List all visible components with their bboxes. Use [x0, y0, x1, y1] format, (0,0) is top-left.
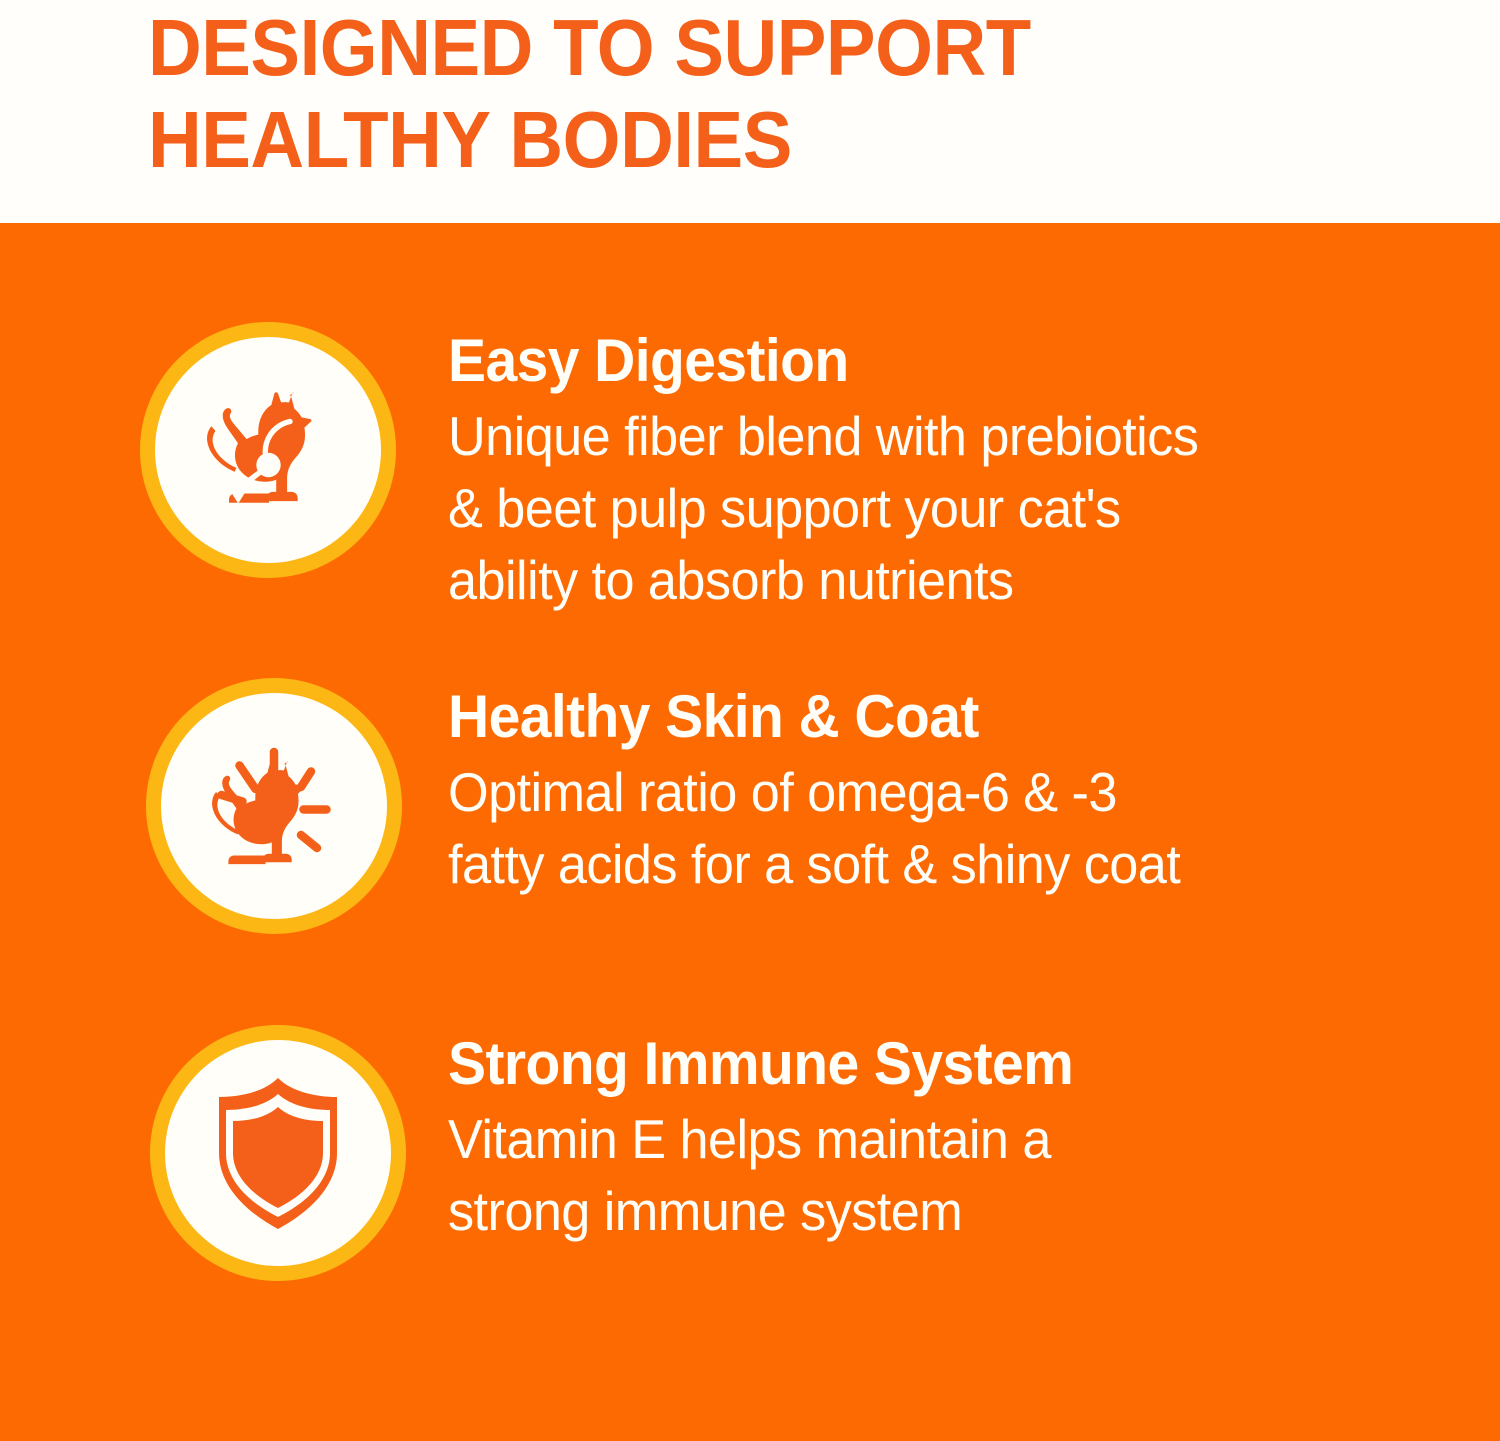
- features-panel: Easy Digestion Unique fiber blend with p…: [0, 223, 1500, 1441]
- infographic-page: DESIGNED TO SUPPORT HEALTHY BODIES: [0, 0, 1500, 1441]
- feature-title: Easy Digestion: [448, 326, 1417, 396]
- icon-badge-healthy-skin-coat: [146, 678, 402, 934]
- feature-item-easy-digestion: Easy Digestion Unique fiber blend with p…: [0, 322, 1500, 616]
- icon-disc: [155, 337, 381, 563]
- feature-title: Strong Immune System: [448, 1029, 1417, 1099]
- shield-icon: [203, 1076, 353, 1231]
- page-title: DESIGNED TO SUPPORT HEALTHY BODIES: [148, 2, 1405, 186]
- feature-list: Easy Digestion Unique fiber blend with p…: [0, 223, 1500, 1441]
- icon-badge-strong-immune-system: [150, 1025, 406, 1281]
- feature-item-strong-immune-system: Strong Immune System Vitamin E helps mai…: [0, 1025, 1500, 1281]
- cat-shine-icon: [198, 730, 350, 882]
- feature-item-healthy-skin-coat: Healthy Skin & Coat Optimal ratio of ome…: [0, 678, 1500, 934]
- header-band: DESIGNED TO SUPPORT HEALTHY BODIES: [0, 0, 1500, 223]
- feature-description: Vitamin E helps maintain a strong immune…: [448, 1103, 1417, 1247]
- feature-title: Healthy Skin & Coat: [448, 682, 1417, 752]
- feature-description: Unique fiber blend with prebiotics & bee…: [448, 400, 1417, 616]
- feature-description: Optimal ratio of omega-6 & -3 fatty acid…: [448, 756, 1417, 900]
- feature-text-block: Strong Immune System Vitamin E helps mai…: [448, 1025, 1468, 1247]
- feature-text-block: Healthy Skin & Coat Optimal ratio of ome…: [448, 678, 1468, 900]
- icon-disc: [161, 693, 387, 919]
- icon-badge-easy-digestion: [140, 322, 396, 578]
- feature-text-block: Easy Digestion Unique fiber blend with p…: [448, 322, 1468, 616]
- cat-digestion-icon: [193, 375, 343, 525]
- icon-disc: [165, 1040, 391, 1266]
